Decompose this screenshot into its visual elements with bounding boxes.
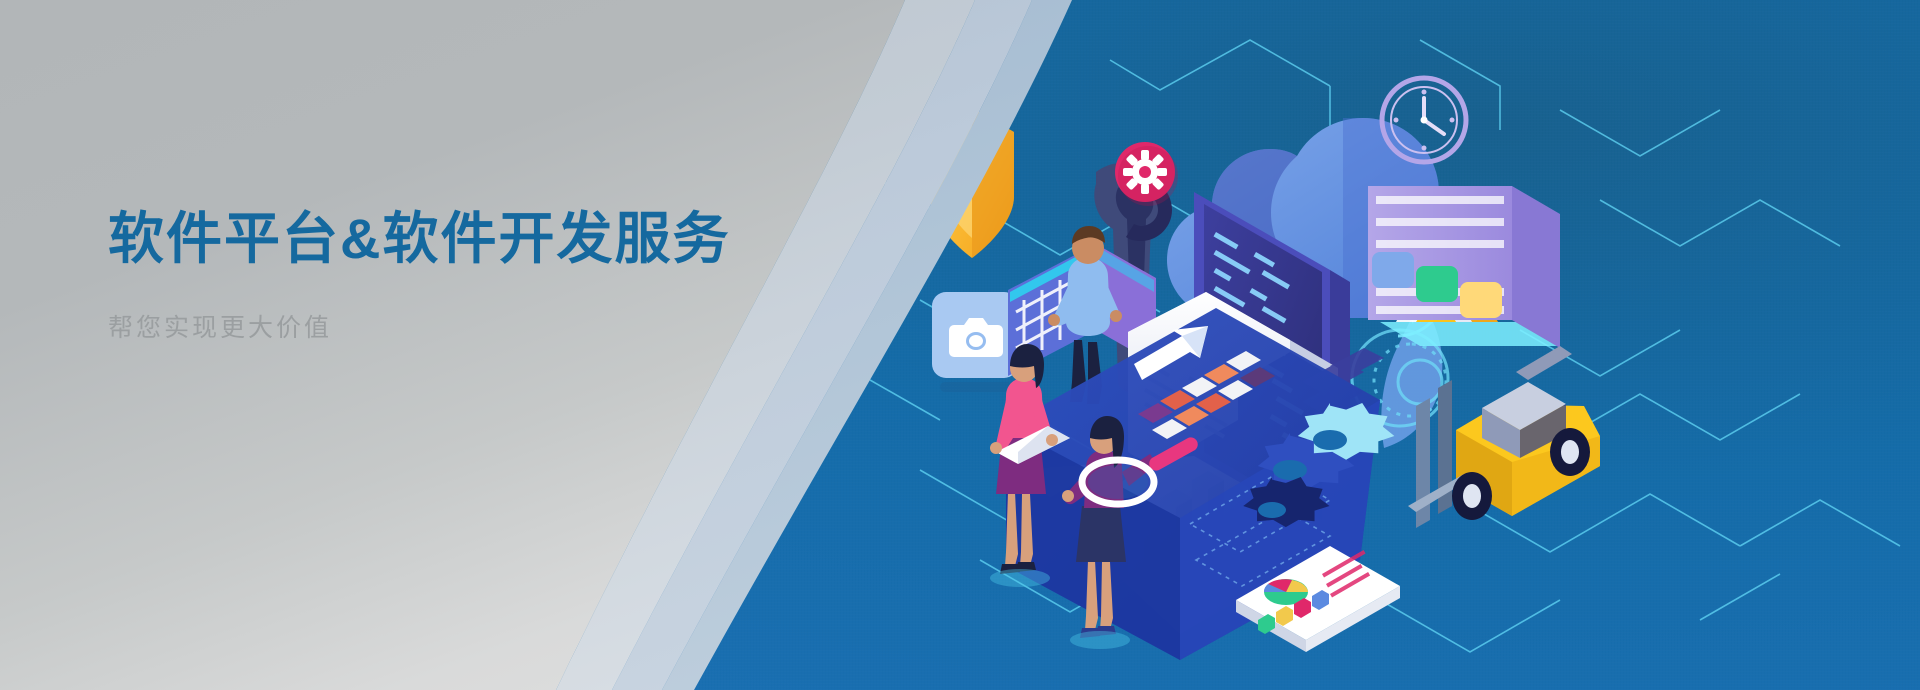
banner-subtitle: 帮您实现更大价值 <box>108 308 748 344</box>
banner-title: 软件平台&软件开发服务 <box>108 206 748 272</box>
grey-curve-overlay <box>0 0 1920 690</box>
banner-copy: 软件平台&软件开发服务 帮您实现更大价值 <box>108 206 748 344</box>
hero-banner: 软件平台&软件开发服务 帮您实现更大价值 <box>0 0 1920 690</box>
